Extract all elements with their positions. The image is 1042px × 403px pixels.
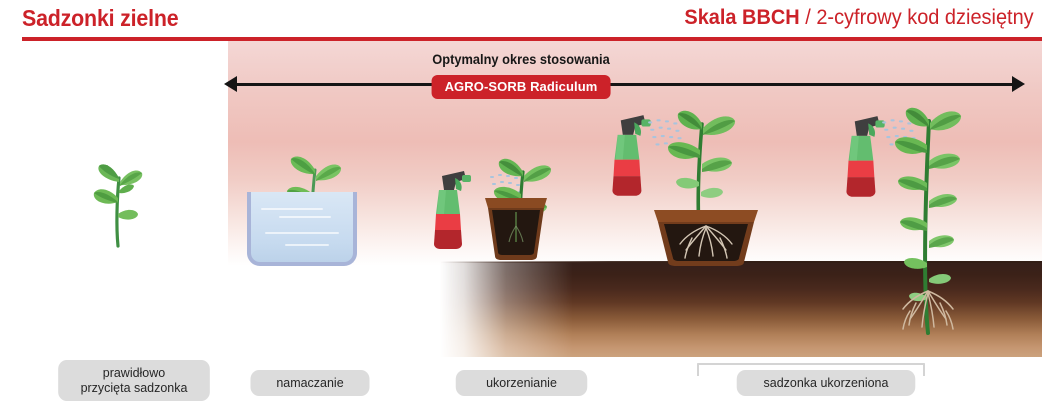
arrow-head-right-icon	[1012, 76, 1025, 92]
scale-title: Skala BBCH / 2-cyfrowy kod dziesiętny	[685, 6, 1034, 30]
page-title: Sadzonki zielne	[22, 5, 178, 32]
water-highlight-3	[265, 232, 339, 234]
spray-bottle-icon	[420, 168, 480, 253]
stage-label-soaking: namaczanie	[250, 370, 369, 396]
cutting-plant-icon	[78, 138, 158, 248]
arrow-head-left-icon	[224, 76, 237, 92]
scale-title-bold: Skala BBCH	[685, 6, 800, 29]
infographic-canvas: Sadzonki zielne Skala BBCH / 2-cyfrowy k…	[0, 0, 1042, 403]
water-highlight-4	[285, 244, 329, 246]
stage-label-rooted: sadzonka ukorzeniona	[737, 370, 916, 396]
stage-cutting-illustration	[78, 138, 158, 248]
water-container	[247, 192, 357, 266]
water-highlight-1	[261, 208, 323, 210]
stage-field-plant	[872, 105, 990, 335]
small-pot	[483, 196, 549, 262]
spray-bottle-stage-rooting	[420, 168, 480, 253]
mature-plant-icon	[872, 105, 990, 335]
optimal-period-label: Optymalny okres stosowania	[26, 52, 1016, 67]
application-period-arrow-line	[232, 83, 1022, 86]
plant-pot-icon	[652, 208, 760, 268]
product-badge: AGRO-SORB Radiculum	[432, 75, 611, 99]
water-highlight-2	[279, 216, 331, 218]
stage-label-rooting: ukorzenianie	[456, 370, 588, 396]
plant-pot-icon	[483, 196, 549, 262]
scale-title-light: / 2-cyfrowy kod dziesiętny	[800, 6, 1034, 29]
large-pot	[652, 208, 760, 268]
stage-label-cutting: prawidłowo przycięta sadzonka	[58, 360, 210, 401]
